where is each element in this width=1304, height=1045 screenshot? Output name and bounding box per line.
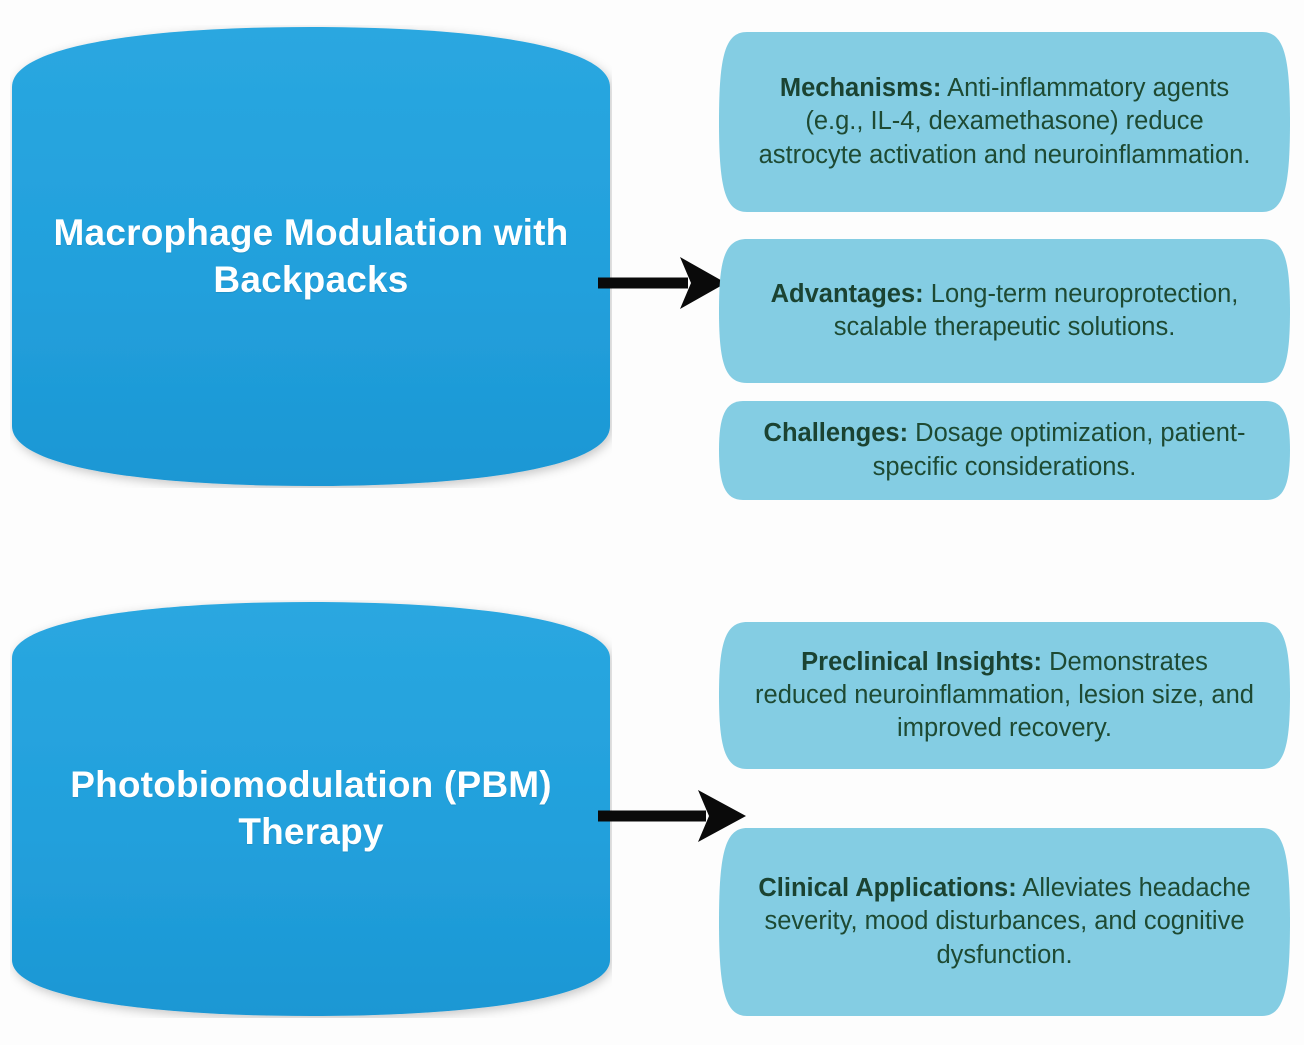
node-label: Macrophage Modulation with Backpacks [52, 210, 570, 303]
callout-body: Clinical Applications: Alleviates headac… [746, 872, 1264, 971]
callout-mechanisms[interactable]: Mechanisms: Anti-inflammatory agents (e.… [717, 30, 1292, 214]
callout-preclinical-insights[interactable]: Preclinical Insights: Demonstrates reduc… [717, 620, 1292, 771]
node-macrophage-modulation[interactable]: Macrophage Modulation with Backpacks [10, 25, 612, 488]
callout-challenges[interactable]: Challenges: Dosage optimization, patient… [717, 399, 1292, 502]
node-label: Photobiomodulation (PBM) Therapy [52, 762, 570, 855]
callout-clinical-applications[interactable]: Clinical Applications: Alleviates headac… [717, 826, 1292, 1018]
callout-body: Preclinical Insights: Demonstrates reduc… [746, 646, 1264, 745]
arrow-right-icon [596, 255, 728, 311]
callout-heading: Challenges: [764, 419, 909, 447]
callout-body: Mechanisms: Anti-inflammatory agents (e.… [746, 72, 1264, 171]
callout-heading: Advantages: [771, 280, 924, 308]
callout-heading: Clinical Applications: [758, 874, 1016, 902]
callout-heading: Mechanisms: [780, 74, 942, 102]
callout-detail: Dosage optimization, patient-specific co… [873, 419, 1246, 480]
diagram-canvas: Macrophage Modulation with Backpacks Mec… [0, 0, 1304, 1045]
callout-body: Challenges: Dosage optimization, patient… [746, 417, 1264, 483]
callout-heading: Preclinical Insights: [801, 648, 1042, 676]
callout-advantages[interactable]: Advantages: Long-term neuroprotection, s… [717, 237, 1292, 385]
callout-body: Advantages: Long-term neuroprotection, s… [746, 278, 1264, 344]
arrow-macrophage-to-details [596, 255, 728, 311]
node-photobiomodulation-therapy[interactable]: Photobiomodulation (PBM) Therapy [10, 600, 612, 1018]
